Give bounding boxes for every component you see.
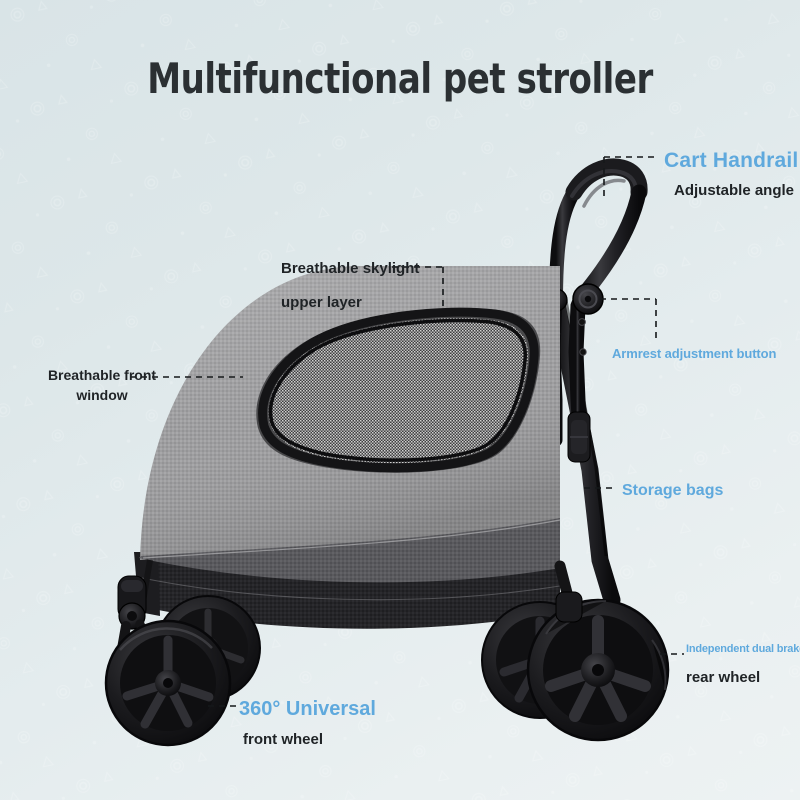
annotation-universal-headline: 360° Universal	[239, 695, 376, 724]
annotation-breathable-skylight: Breathable skylight upper layer	[281, 258, 419, 314]
annotation-brakes-headline: Independent dual brakes	[686, 642, 800, 658]
annotation-front-window-line2: window	[46, 385, 158, 405]
annotation-breathable-front-window: Breathable front window	[46, 365, 158, 406]
annotation-armrest-adjustment-button: Armrest adjustment button	[612, 345, 776, 364]
annotation-skylight-line1: Breathable skylight	[281, 258, 419, 280]
annotation-independent-dual-brakes: Independent dual brakes rear wheel	[686, 642, 800, 689]
annotation-front-window-line1: Breathable front	[46, 365, 158, 385]
annotation-360-universal-front-wheel: 360° Universal front wheel	[239, 695, 376, 751]
annotation-brakes-subline: rear wheel	[686, 667, 800, 689]
annotation-storage-bags: Storage bags	[622, 479, 723, 502]
annotation-armrest-headline: Armrest adjustment button	[612, 345, 776, 364]
annotation-universal-subline: front wheel	[243, 729, 376, 751]
annotation-cart-handrail-subline: Adjustable angle	[674, 180, 798, 202]
annotation-cart-handrail-headline: Cart Handrail	[664, 146, 798, 176]
annotation-skylight-line2: upper layer	[281, 292, 419, 314]
annotation-storage-headline: Storage bags	[622, 479, 723, 502]
annotation-cart-handrail: Cart Handrail Adjustable angle	[664, 146, 798, 202]
page-title: Multifunctional pet stroller	[40, 54, 760, 103]
infographic-page: Multifunctional pet stroller	[0, 0, 800, 800]
